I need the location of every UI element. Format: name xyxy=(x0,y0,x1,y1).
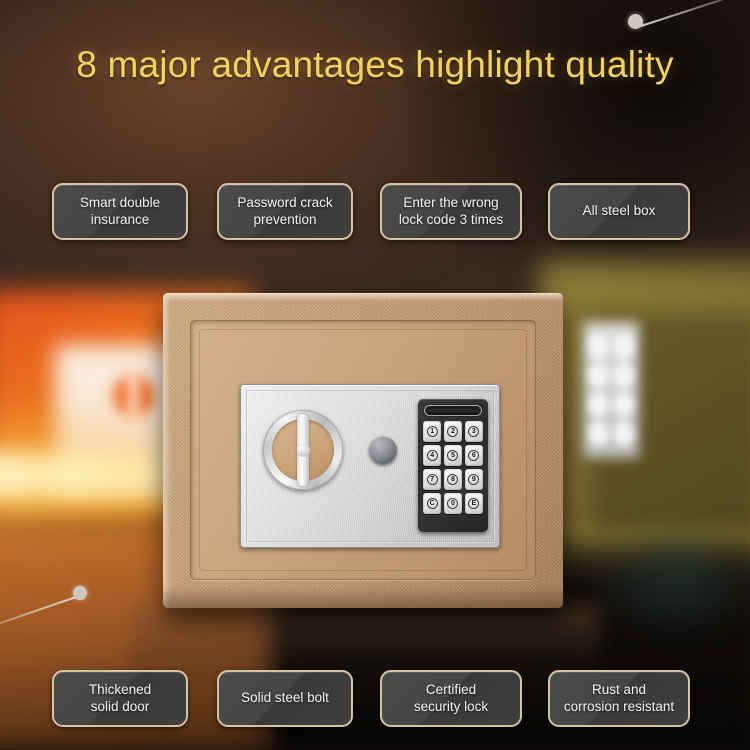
lock-center-pin xyxy=(297,444,310,457)
page-title: 8 major advantages highlight quality xyxy=(0,44,750,86)
feature-chip-password-crack-prevention[interactable]: Password crack prevention xyxy=(217,183,353,240)
product-safe: 1 2 3 4 5 6 7 8 9 C 0 E xyxy=(163,293,563,608)
key-label: 2 xyxy=(447,426,458,437)
feature-chip-rust-corrosion-resistant[interactable]: Rust and corrosion resistant xyxy=(548,670,690,727)
background-teal-glow xyxy=(590,520,750,640)
keypad-key-9[interactable]: 9 xyxy=(465,469,483,490)
safe-left-edge-highlight xyxy=(163,293,171,608)
feature-line-1: Thickened xyxy=(89,682,151,699)
keypad-key-4[interactable]: 4 xyxy=(423,445,441,466)
safe-door[interactable]: 1 2 3 4 5 6 7 8 9 C 0 E xyxy=(190,320,536,580)
product-feature-poster: 8 major advantages highlight quality Sma… xyxy=(0,0,750,750)
feature-line-2: solid door xyxy=(89,699,151,716)
keypad-key-6[interactable]: 6 xyxy=(465,445,483,466)
feature-line-1: Smart double xyxy=(80,195,160,212)
product-ground-reflection xyxy=(130,606,600,726)
feature-line-2: security lock xyxy=(414,699,488,716)
feature-line-2: prevention xyxy=(237,212,332,229)
feature-line-1: Certified xyxy=(414,682,488,699)
key-label: 9 xyxy=(468,474,479,485)
keypad-key-enter[interactable]: E xyxy=(465,493,483,514)
feature-chip-solid-steel-bolt[interactable]: Solid steel bolt xyxy=(217,670,353,727)
key-label: 4 xyxy=(427,450,438,461)
keypad-panel: 1 2 3 4 5 6 7 8 9 C 0 E xyxy=(418,399,488,532)
keypad-key-3[interactable]: 3 xyxy=(465,421,483,442)
key-label: 7 xyxy=(427,474,438,485)
key-label: E xyxy=(468,498,479,509)
safe-top-edge-highlight xyxy=(163,293,563,301)
keypad-key-2[interactable]: 2 xyxy=(444,421,462,442)
led-display xyxy=(424,405,482,416)
feature-line-1: Solid steel bolt xyxy=(241,690,329,707)
emergency-knob-button[interactable] xyxy=(369,436,397,464)
key-label: 3 xyxy=(468,426,479,437)
keypad-key-clear[interactable]: C xyxy=(423,493,441,514)
feature-line-1: Enter the wrong xyxy=(399,195,503,212)
keypad-key-7[interactable]: 7 xyxy=(423,469,441,490)
key-label: 8 xyxy=(447,474,458,485)
feature-line-2: corrosion resistant xyxy=(564,699,674,716)
safe-faceplate: 1 2 3 4 5 6 7 8 9 C 0 E xyxy=(240,384,500,548)
key-label: 1 xyxy=(427,426,438,437)
feature-chip-smart-double-insurance[interactable]: Smart double insurance xyxy=(52,183,188,240)
key-label: 5 xyxy=(447,450,458,461)
feature-line-2: insurance xyxy=(80,212,160,229)
feature-line-1: All steel box xyxy=(583,203,656,220)
rotary-lock-icon[interactable] xyxy=(263,410,343,490)
feature-chip-thickened-solid-door[interactable]: Thickened solid door xyxy=(52,670,188,727)
safe-bottom-shadow xyxy=(163,586,563,608)
key-label: 0 xyxy=(447,498,458,509)
keypad-grid: 1 2 3 4 5 6 7 8 9 C 0 E xyxy=(423,421,483,514)
keypad-key-5[interactable]: 5 xyxy=(444,445,462,466)
feature-chip-wrong-lock-code[interactable]: Enter the wrong lock code 3 times xyxy=(380,183,522,240)
feature-chip-certified-security-lock[interactable]: Certified security lock xyxy=(380,670,522,727)
key-label: C xyxy=(427,498,438,509)
feature-line-1: Rust and xyxy=(564,682,674,699)
feature-line-1: Password crack xyxy=(237,195,332,212)
background-safe-olive-keypad xyxy=(588,334,634,446)
feature-line-2: lock code 3 times xyxy=(399,212,503,229)
keypad-key-8[interactable]: 8 xyxy=(444,469,462,490)
feature-chip-all-steel-box[interactable]: All steel box xyxy=(548,183,690,240)
keypad-key-0[interactable]: 0 xyxy=(444,493,462,514)
key-label: 6 xyxy=(468,450,479,461)
keypad-key-1[interactable]: 1 xyxy=(423,421,441,442)
